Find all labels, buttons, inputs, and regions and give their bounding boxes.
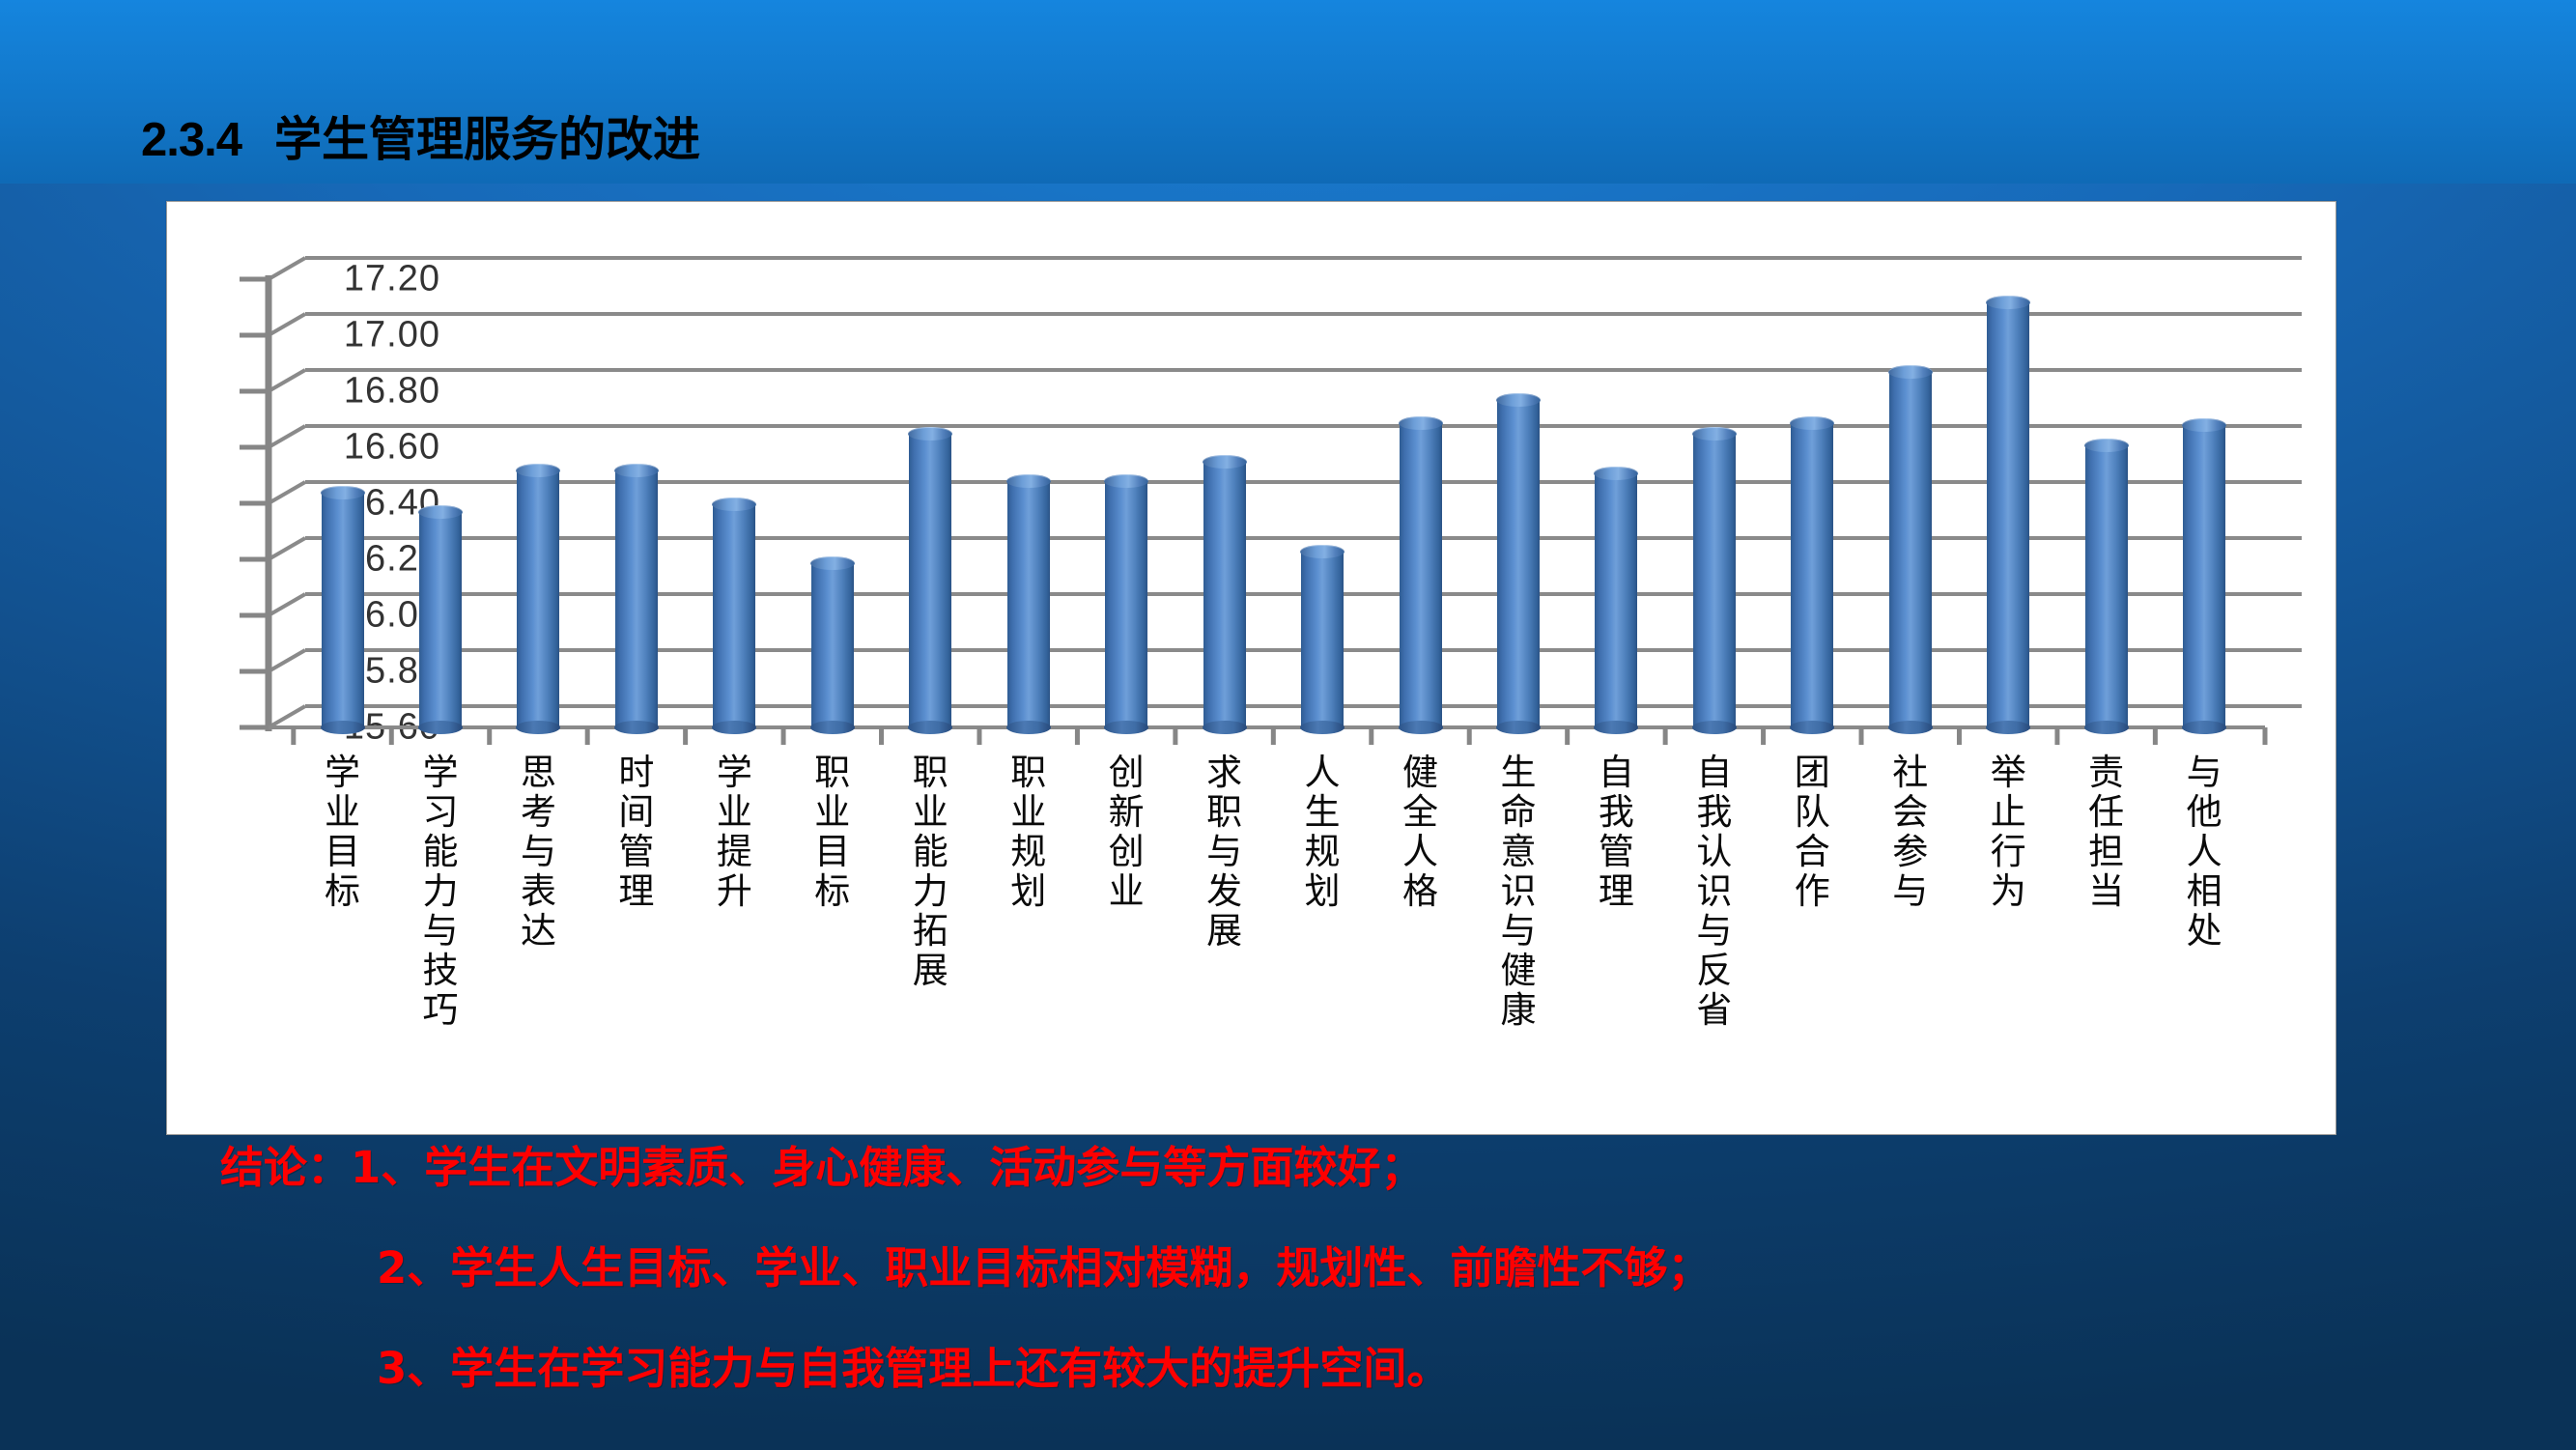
x-axis-category-label: 思考与表达 (516, 753, 560, 951)
x-axis-labels: 学业目标学习能力与技巧思考与表达时间管理学业提升职业目标职业能力拓展职业规划创新… (167, 202, 2335, 1134)
page-title-text: 学生管理服务的改进 (274, 114, 700, 166)
x-axis-category-label: 时间管理 (614, 753, 659, 911)
x-axis-category-label: 与他人相处 (2182, 753, 2226, 951)
x-axis-category-label: 职业目标 (810, 753, 855, 911)
x-axis-category-label: 责任担当 (2084, 753, 2129, 911)
x-axis-category-label: 学业目标 (321, 753, 365, 911)
x-axis-category-label: 生命意识与健康 (1496, 753, 1541, 1030)
x-axis-category-label: 团队合作 (1790, 753, 1834, 911)
chart-frame: 17.2017.0016.8016.6016.4016.2016.0015.80… (166, 201, 2336, 1135)
x-axis-category-label: 学业提升 (712, 753, 756, 911)
x-axis-category-label: 求职与发展 (1203, 753, 1247, 951)
x-axis-category-label: 社会参与 (1888, 753, 1933, 911)
page-title: 2.3.4学生管理服务的改进 (141, 101, 700, 170)
x-axis-category-label: 学习能力与技巧 (418, 753, 463, 1030)
conclusion-line-3: 3、学生在学习能力与自我管理上还有较大的提升空间。 (377, 1339, 1450, 1399)
x-axis-category-label: 创新创业 (1104, 753, 1148, 911)
x-axis-category-label: 自我认识与反省 (1692, 753, 1737, 1030)
conclusion-line-1: 结论：1、学生在文明素质、身心健康、活动参与等方面较好； (220, 1138, 1424, 1198)
x-axis-category-label: 健全人格 (1399, 753, 1443, 911)
x-axis-category-label: 自我管理 (1594, 753, 1638, 911)
chart-plot-area: 17.2017.0016.8016.6016.4016.2016.0015.80… (167, 202, 2335, 1134)
page-title-number: 2.3.4 (141, 114, 241, 166)
x-axis-category-label: 职业规划 (1006, 753, 1051, 911)
slide-root: 2.3.4学生管理服务的改进 17.2017.0016.8016.6016.40… (0, 0, 2576, 1450)
x-axis-category-label: 人生规划 (1300, 753, 1345, 911)
x-axis-category-label: 职业能力拓展 (908, 753, 952, 990)
conclusion-line-2: 2、学生人生目标、学业、职业目标相对模糊，规划性、前瞻性不够； (377, 1238, 1711, 1298)
x-axis-category-label: 举止行为 (1986, 753, 2030, 911)
